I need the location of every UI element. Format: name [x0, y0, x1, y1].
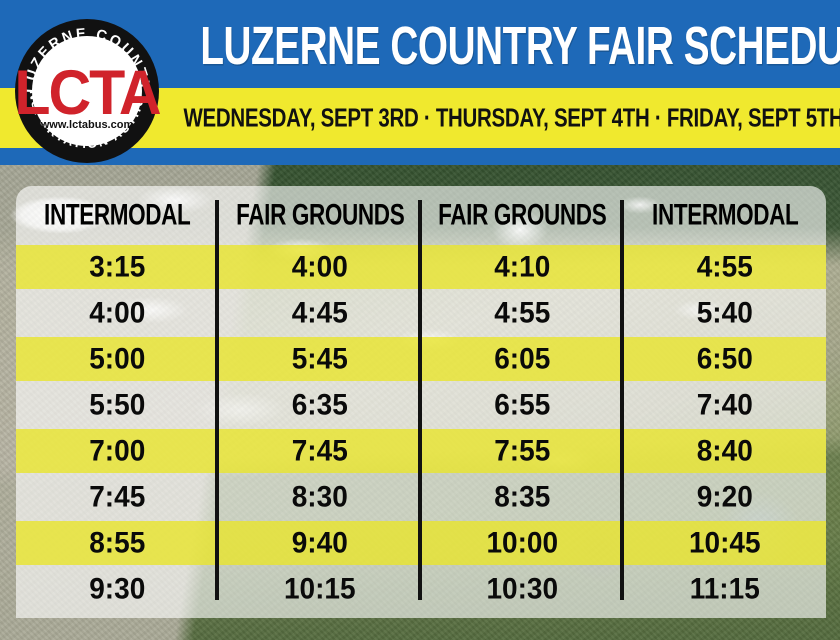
table-cell: 11:15 [624, 565, 827, 614]
table-cell: 8:30 [219, 473, 422, 522]
table-cell: 9:30 [16, 565, 219, 614]
fair-schedule-poster: LUZERNE COUNTRY FAIR SCHEDULE WEDNESDAY,… [0, 0, 840, 640]
logo-website-text: www.lctabus.com [40, 119, 134, 131]
table-cell: 4:55 [421, 289, 624, 338]
table-cell: 6:55 [421, 381, 624, 430]
table-cell: 5:00 [16, 335, 219, 384]
column-divider-2 [418, 200, 422, 600]
table-cell: 9:40 [219, 519, 422, 568]
table-cell: 10:15 [219, 565, 422, 614]
table-cell: 8:40 [624, 427, 827, 476]
table-cell: 7:55 [421, 427, 624, 476]
table-cell: 6:50 [624, 335, 827, 384]
column-header-fairgrounds-arrive: FAIR GROUNDS [229, 186, 411, 250]
table-cell: 5:50 [16, 381, 219, 430]
page-title: LUZERNE COUNTRY FAIR SCHEDULE [200, 12, 791, 83]
table-cell: 4:55 [624, 243, 827, 292]
svg-text:LCTA: LCTA [14, 58, 160, 128]
schedule-panel: INTERMODAL FAIR GROUNDS FAIR GROUNDS INT… [16, 186, 826, 618]
column-divider-1 [215, 200, 219, 600]
table-cell: 10:30 [421, 565, 624, 614]
table-cell: 4:10 [421, 243, 624, 292]
table-cell: 8:35 [421, 473, 624, 522]
table-cell: 4:45 [219, 289, 422, 338]
column-divider-3 [620, 200, 624, 600]
table-cell: 7:00 [16, 427, 219, 476]
table-cell: 5:45 [219, 335, 422, 384]
table-cell: 5:40 [624, 289, 827, 338]
column-header-intermodal-depart: INTERMODAL [26, 186, 208, 250]
table-cell: 9:20 [624, 473, 827, 522]
table-cell: 7:40 [624, 381, 827, 430]
column-header-fairgrounds-depart: FAIR GROUNDS [431, 186, 613, 250]
page-subtitle: WEDNESDAY, SEPT 3RD · THURSDAY, SEPT 4TH… [184, 94, 809, 141]
table-cell: 6:35 [219, 381, 422, 430]
lcta-logo: LUZERNE COUNTY TRANSPORTATION AUTHORITY … [14, 18, 160, 164]
table-cell: 6:05 [421, 335, 624, 384]
logo-monogram: LCTA [14, 58, 160, 128]
table-cell: 8:55 [16, 519, 219, 568]
table-cell: 10:45 [624, 519, 827, 568]
table-cell: 10:00 [421, 519, 624, 568]
lcta-logo-svg: LUZERNE COUNTY TRANSPORTATION AUTHORITY … [14, 18, 160, 164]
column-header-intermodal-arrive: INTERMODAL [634, 186, 816, 250]
table-cell: 7:45 [16, 473, 219, 522]
table-cell: 4:00 [219, 243, 422, 292]
table-cell: 4:00 [16, 289, 219, 338]
table-cell: 3:15 [16, 243, 219, 292]
table-cell: 7:45 [219, 427, 422, 476]
